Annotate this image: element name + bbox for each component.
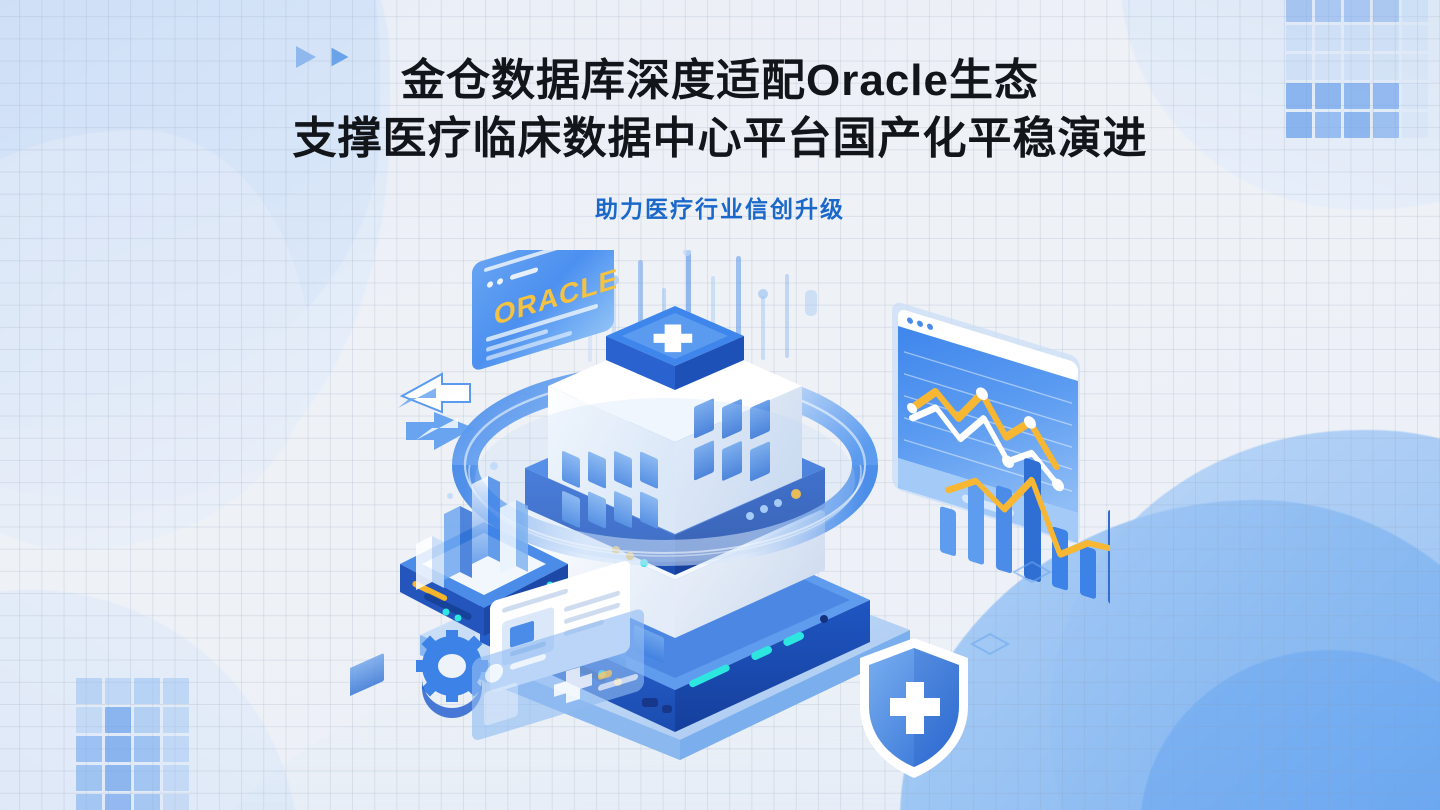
page-title-line-2: 支撑医疗临床数据中心平台国产化平稳演进 bbox=[0, 110, 1440, 168]
mosaic-bottom-left bbox=[76, 678, 189, 810]
heading-block: 金仓数据库深度适配Oracle生态 支撑医疗临床数据中心平台国产化平稳演进 助力… bbox=[0, 52, 1440, 224]
page-title-line-1: 金仓数据库深度适配Oracle生态 bbox=[0, 52, 1440, 110]
analytics-window bbox=[892, 300, 1080, 545]
data-exchange-arrows-icon bbox=[398, 374, 474, 450]
page-subtitle: 助力医疗行业信创升级 bbox=[0, 190, 1440, 224]
illustration-props: ORACLE bbox=[350, 250, 1110, 790]
slide-canvas: 金仓数据库深度适配Oracle生态 支撑医疗临床数据中心平台国产化平稳演进 助力… bbox=[0, 0, 1440, 810]
hero-illustration: ORACLE bbox=[350, 250, 1110, 790]
oracle-card: ORACLE bbox=[472, 250, 618, 372]
security-shield-icon bbox=[860, 638, 968, 778]
